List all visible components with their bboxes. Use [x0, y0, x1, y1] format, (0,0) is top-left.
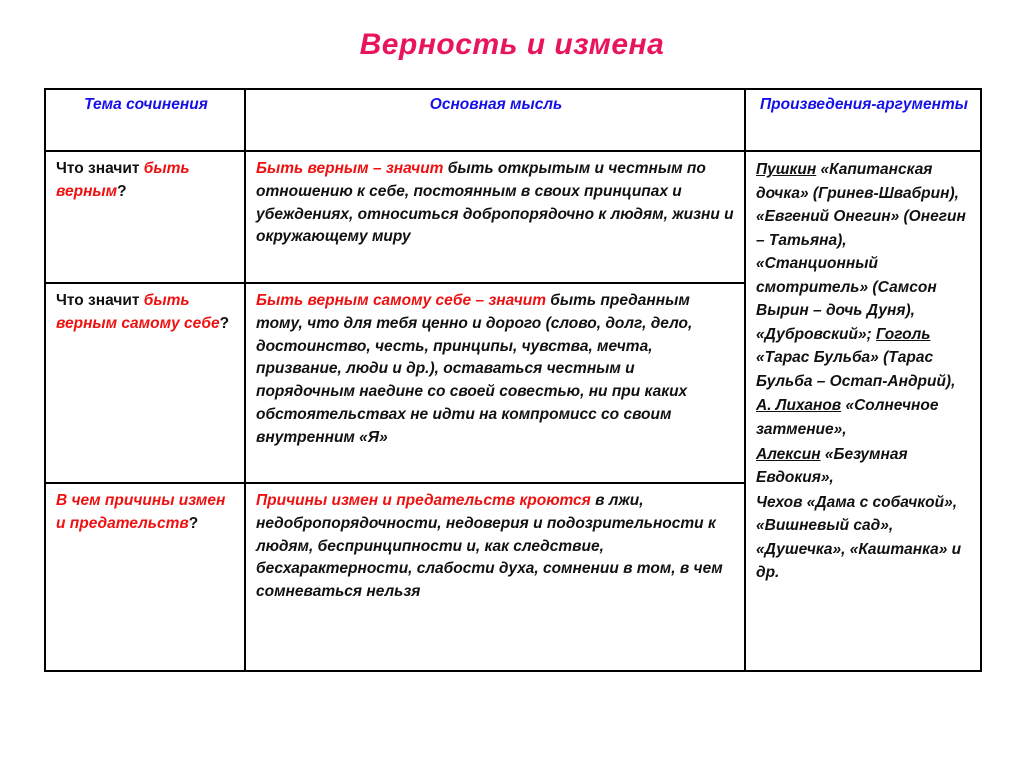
works-author-aleksin: Алексин [756, 446, 821, 463]
cell-main-idea-2: Быть верным самому себе – значит быть пр… [245, 283, 745, 483]
cell-main-idea-3: Причины измен и предательств кроются в л… [245, 483, 745, 671]
idea-lead-1: Быть верным – значит [256, 160, 448, 177]
works-author-chekhov: Чехов [756, 494, 802, 511]
table-header-row: Тема сочинения Основная мысль Произведен… [45, 89, 981, 151]
works-author-gogol: Гоголь [876, 326, 930, 343]
works-author-likhanov: А. Лиханов [756, 397, 841, 414]
column-header-theme: Тема сочинения [45, 89, 245, 151]
theme-black-suffix-1: ? [117, 183, 126, 200]
table-row: Что значит быть верным? Быть верным – зн… [45, 151, 981, 283]
cell-main-idea-1: Быть верным – значит быть открытым и чес… [245, 151, 745, 283]
idea-rest-2: быть преданным тому, что для тебя ценно … [256, 292, 692, 446]
cell-theme-2: Что значит быть верным самому себе? [45, 283, 245, 483]
column-header-main-idea: Основная мысль [245, 89, 745, 151]
theme-black-prefix-1: Что значит [56, 160, 144, 177]
works-text-pushkin: «Капитанская дочка» (Гринев-Швабрин), «Е… [756, 161, 966, 343]
table-header: Тема сочинения Основная мысль Произведен… [45, 89, 981, 151]
works-paragraph: А. Лиханов «Солнечное затмение», [756, 394, 972, 441]
works-paragraph: Чехов «Дама с собачкой», «Вишневый сад»,… [756, 491, 972, 585]
works-paragraph: Алексин «Безумная Евдокия», [756, 443, 972, 490]
cell-theme-3: В чем причины измен и предательств? [45, 483, 245, 671]
works-text-gogol: «Тарас Бульба» (Тарас Бульба – Остап-Анд… [756, 349, 955, 390]
theme-black-suffix-3: ? [189, 515, 198, 532]
essay-topics-table-wrapper: Тема сочинения Основная мысль Произведен… [44, 88, 980, 672]
cell-works-arguments: Пушкин «Капитанская дочка» (Гринев-Швабр… [745, 151, 981, 671]
page-title: Верность и измена [0, 28, 1024, 62]
works-author-pushkin: Пушкин [756, 161, 816, 178]
idea-lead-2: Быть верным самому себе – значит [256, 292, 550, 309]
column-header-works: Произведения-аргументы [745, 89, 981, 151]
theme-red-part-3: В чем причины измен и предательств [56, 492, 225, 532]
slide-page: Верность и измена Тема сочинения Основна… [0, 0, 1024, 767]
table-body: Что значит быть верным? Быть верным – зн… [45, 151, 981, 671]
essay-topics-table: Тема сочинения Основная мысль Произведен… [44, 88, 982, 672]
theme-black-suffix-2: ? [220, 315, 229, 332]
works-paragraph: Пушкин «Капитанская дочка» (Гринев-Швабр… [756, 158, 972, 393]
cell-theme-1: Что значит быть верным? [45, 151, 245, 283]
theme-black-prefix-2: Что значит [56, 292, 144, 309]
idea-lead-3: Причины измен и предательств кроются [256, 492, 595, 509]
